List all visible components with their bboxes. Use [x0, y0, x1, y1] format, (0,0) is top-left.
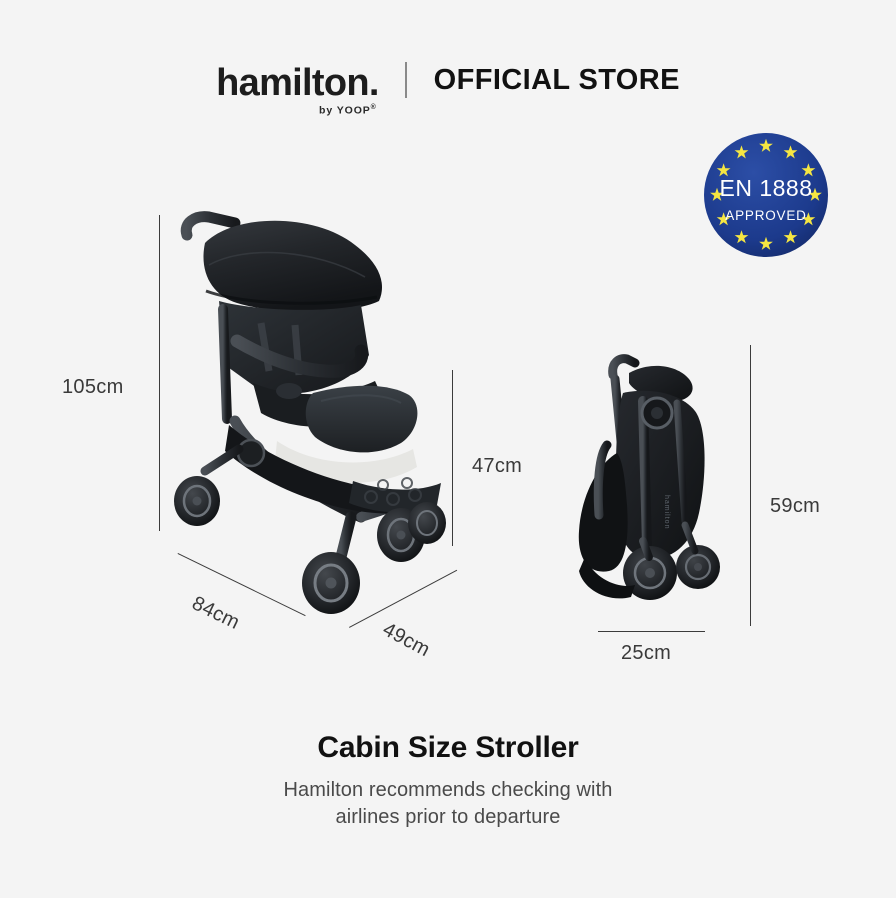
- brand-name: hamilton.: [216, 64, 379, 102]
- dimension-line-folded-width-25: [598, 631, 705, 632]
- official-store-label: OFFICIAL STORE: [434, 64, 680, 97]
- wheel-front-right: [408, 502, 446, 544]
- infographic-canvas: hamilton. by YOOP® OFFICIAL STORE: [0, 0, 896, 898]
- folded-hub-center: [651, 407, 663, 419]
- dimension-label-height-105: 105cm: [62, 376, 124, 399]
- folded-stroller-graphic: hamilton: [565, 345, 740, 625]
- harness-buckle: [276, 383, 302, 399]
- wheel-rear-left: [174, 476, 220, 526]
- badge-subtitle: APPROVED: [725, 208, 806, 223]
- footer-subtitle: Hamilton recommends checking with airlin…: [0, 777, 896, 831]
- store-header: hamilton. by YOOP® OFFICIAL STORE: [0, 62, 896, 104]
- footer-subtitle-line-1: Hamilton recommends checking with: [0, 777, 896, 804]
- footer-title: Cabin Size Stroller: [0, 730, 896, 766]
- rear-left-leg: [205, 449, 239, 471]
- registered-mark-icon: ®: [371, 104, 377, 111]
- header-divider: [405, 62, 407, 98]
- open-stroller-image: [165, 205, 465, 625]
- brand-tagline-text: by YOOP: [319, 105, 371, 117]
- footer-subtitle-line-2: airlines prior to departure: [0, 804, 896, 831]
- footer-block: Cabin Size Stroller Hamilton recommends …: [0, 730, 896, 831]
- folded-stroller-image: hamilton: [565, 345, 740, 625]
- badge-graphic: EN 1888 APPROVED: [702, 131, 830, 259]
- brand-tagline: by YOOP®: [319, 104, 377, 116]
- fold-hub: [238, 440, 264, 466]
- dimension-label-folded-height-59: 59cm: [770, 495, 820, 518]
- front-fork: [341, 517, 351, 557]
- open-stroller-graphic: [165, 205, 465, 625]
- en-1888-approved-badge: EN 1888 APPROVED: [702, 131, 830, 259]
- dimension-label-folded-width-25: 25cm: [621, 642, 671, 665]
- brand-logo: hamilton. by YOOP®: [216, 64, 379, 102]
- dimension-label-seat-height-47: 47cm: [472, 455, 522, 478]
- frame-upright-left: [223, 309, 227, 419]
- dimension-line-height-105: [159, 215, 160, 531]
- dimension-line-folded-height-59: [750, 345, 751, 626]
- wheel-front: [302, 552, 360, 614]
- dimension-line-seat-height-47: [452, 370, 453, 546]
- badge-title: EN 1888: [719, 175, 812, 201]
- folded-brand-mark: hamilton: [663, 495, 670, 529]
- folded-front-fork: [643, 541, 649, 557]
